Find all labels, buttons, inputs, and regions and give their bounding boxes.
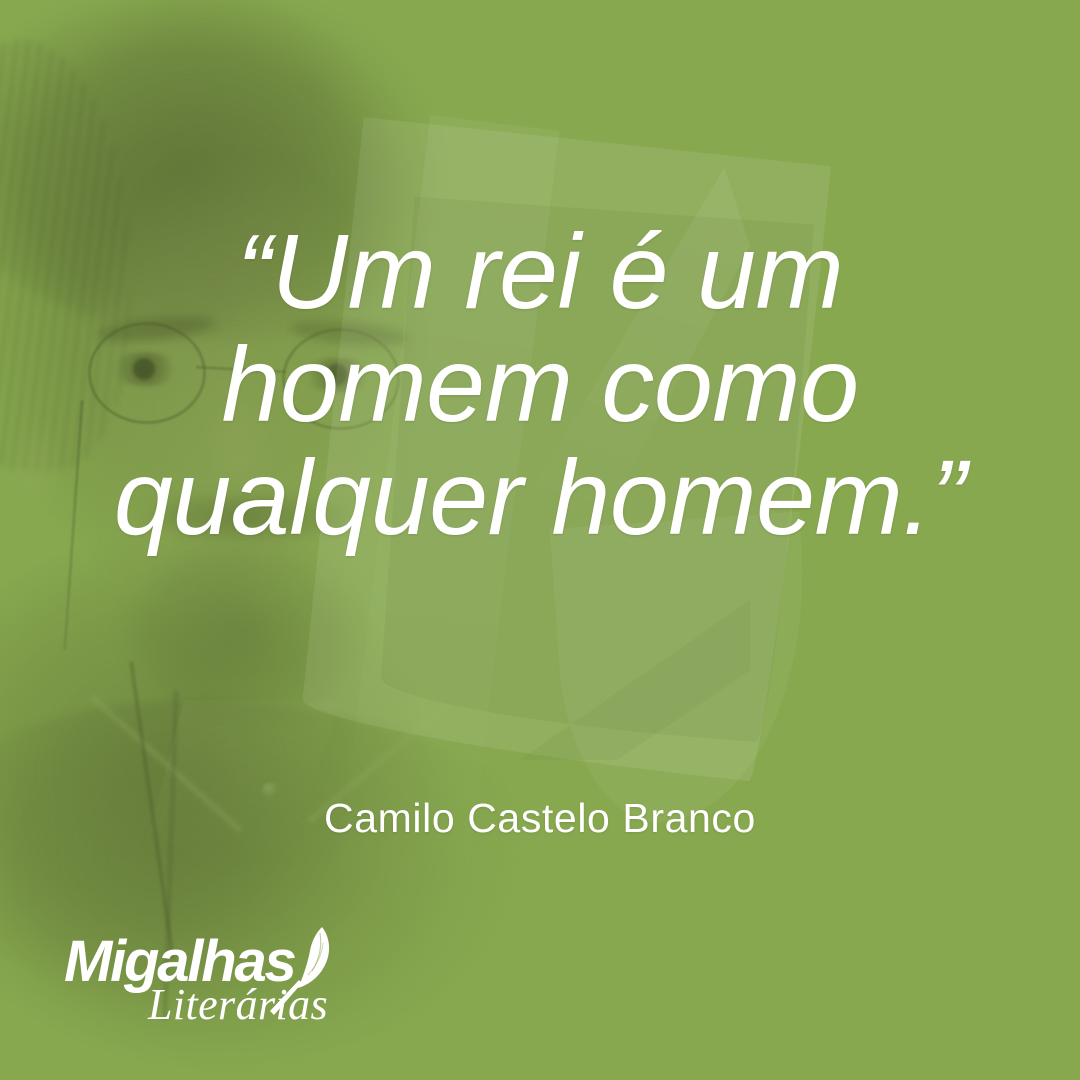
quote-line-3: qualquer homem.”: [56, 442, 1024, 555]
quote-card: “Um rei é um homem como qualquer homem.”…: [0, 0, 1080, 1080]
quote-author: Camilo Castelo Branco: [0, 795, 1080, 842]
quote-text: “Um rei é um homem como qualquer homem.”: [0, 216, 1080, 555]
brand-subtitle: Literárias: [148, 983, 328, 1027]
brand-logo[interactable]: Migalhas Literárias: [64, 925, 364, 1029]
quote-line-1: “Um rei é um: [56, 216, 1024, 329]
quote-line-2: homem como: [56, 329, 1024, 442]
